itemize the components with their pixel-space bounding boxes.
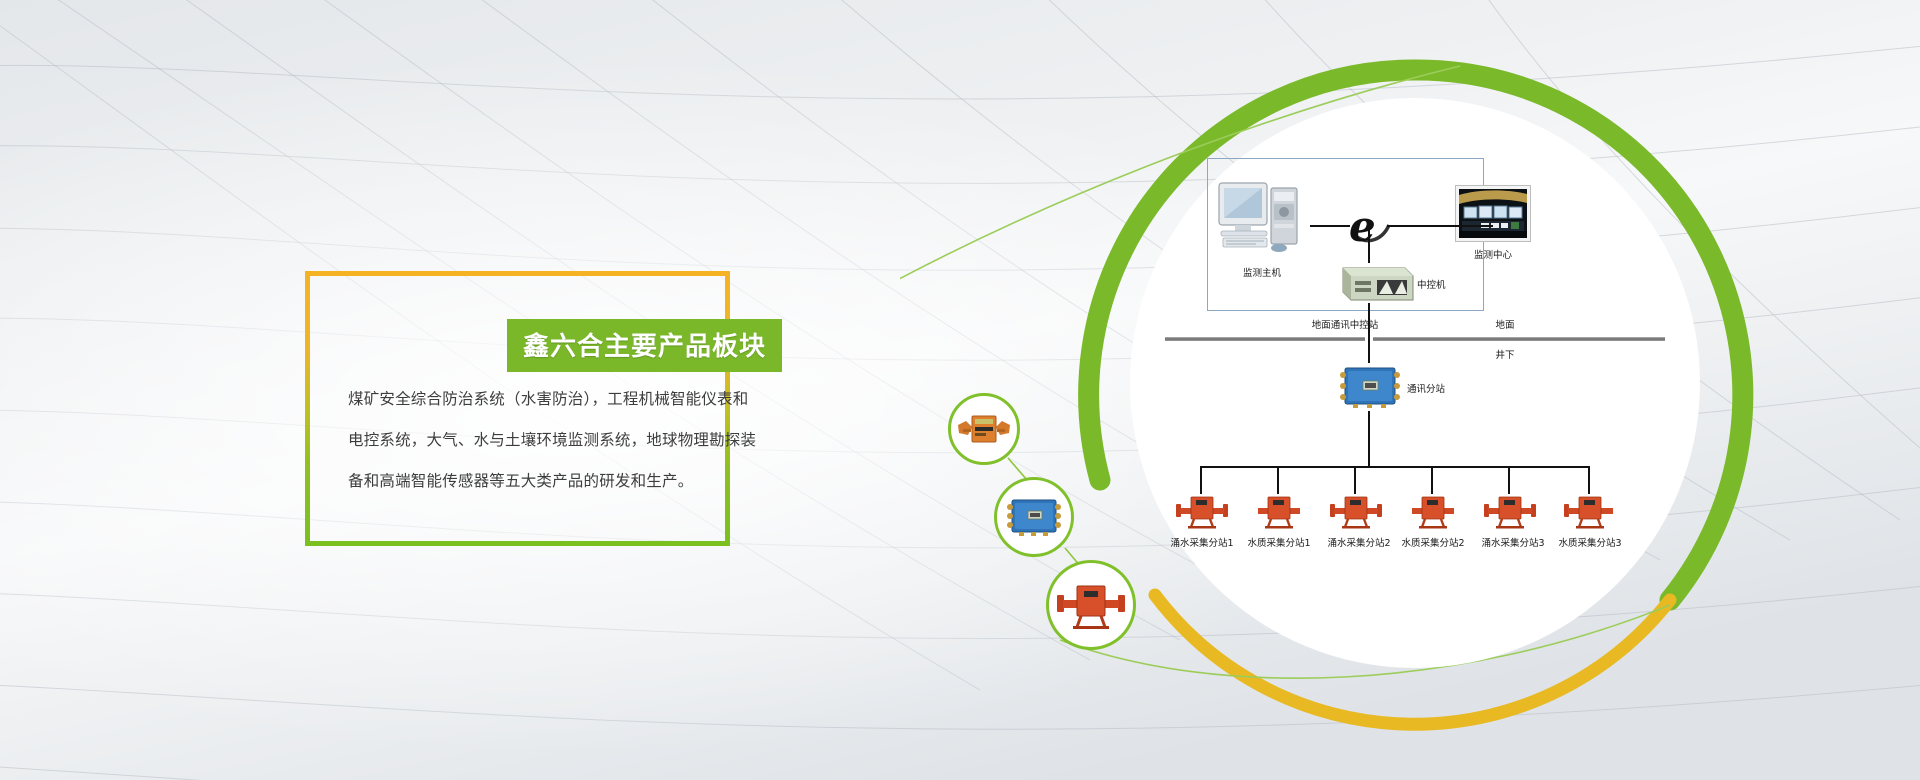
wire-drop-1 — [1200, 466, 1202, 494]
page-title-banner: 鑫六合主要产品板块 — [507, 319, 782, 372]
intro-line-2: 电控系统，大气、水与土壤环境监测系统，地球物理勘探装 — [348, 420, 708, 461]
station-device-3 — [1329, 491, 1383, 531]
station-device-1 — [1175, 491, 1229, 531]
ground-label: 地面 — [1475, 317, 1535, 331]
system-architecture-graphic: 监测主机 e 监测中心 — [900, 0, 1920, 780]
orange-clamp-device-icon — [956, 409, 1012, 449]
station-label-2: 水质采集分站1 — [1234, 535, 1324, 549]
ground-surface-line-left — [1165, 337, 1365, 341]
wire-controller-to-underground — [1368, 303, 1370, 363]
wire-drop-2 — [1277, 466, 1279, 494]
central-controller-icon — [1337, 260, 1415, 306]
monitor-center-label: 监测中心 — [1455, 247, 1531, 261]
station-label-6: 水质采集分站3 — [1545, 535, 1635, 549]
monitor-center-photo — [1455, 185, 1531, 242]
comm-substation-icon — [1337, 363, 1403, 413]
ground-surface-line-right — [1373, 337, 1665, 341]
comm-substation-label: 通讯分站 — [1407, 381, 1467, 395]
product-bubble-orange-clamp[interactable] — [948, 393, 1020, 465]
station-device-5 — [1483, 491, 1537, 531]
product-bubble-red-flanged-sensor[interactable] — [1046, 560, 1136, 650]
wire-internet-to-center — [1387, 225, 1493, 227]
wire-drop-3 — [1354, 466, 1356, 494]
wire-host-to-internet — [1310, 225, 1350, 227]
monitor-host-label: 监测主机 — [1217, 265, 1307, 279]
wire-drop-5 — [1508, 466, 1510, 494]
svg-text:e: e — [1349, 203, 1376, 251]
blue-junction-box-icon — [1003, 494, 1065, 540]
intro-line-1: 煤矿安全综合防治系统（水害防治），工程机械智能仪表和 — [348, 379, 708, 420]
wire-drop-6 — [1588, 466, 1590, 494]
product-bubble-blue-junction-box[interactable] — [994, 477, 1074, 557]
station-label-4: 水质采集分站2 — [1388, 535, 1478, 549]
monitor-host-icon — [1217, 180, 1307, 258]
station-device-4 — [1406, 491, 1460, 531]
water-hazard-monitoring-diagram: 监测主机 e 监测中心 — [1155, 125, 1675, 645]
intro-paragraph: 煤矿安全综合防治系统（水害防治），工程机械智能仪表和 电控系统，大气、水与土壤环… — [348, 379, 708, 502]
underground-label: 井下 — [1475, 347, 1535, 361]
station-device-6 — [1563, 491, 1617, 531]
surface-station-label: 地面通讯中控站 — [1260, 317, 1430, 331]
station-device-2 — [1252, 491, 1306, 531]
wire-horizontal-bus — [1200, 466, 1590, 468]
wire-drop-4 — [1431, 466, 1433, 494]
product-intro-panel: 鑫六合主要产品板块 煤矿安全综合防治系统（水害防治），工程机械智能仪表和 电控系… — [305, 271, 730, 546]
wire-internet-to-controller — [1368, 229, 1370, 263]
page-title: 鑫六合主要产品板块 — [523, 332, 766, 362]
intro-line-3: 备和高端智能传感器等五大类产品的研发和生产。 — [348, 461, 708, 502]
central-controller-label: 中控机 — [1417, 277, 1471, 291]
red-flanged-sensor-icon — [1055, 578, 1127, 632]
wire-substation-down — [1368, 411, 1370, 467]
